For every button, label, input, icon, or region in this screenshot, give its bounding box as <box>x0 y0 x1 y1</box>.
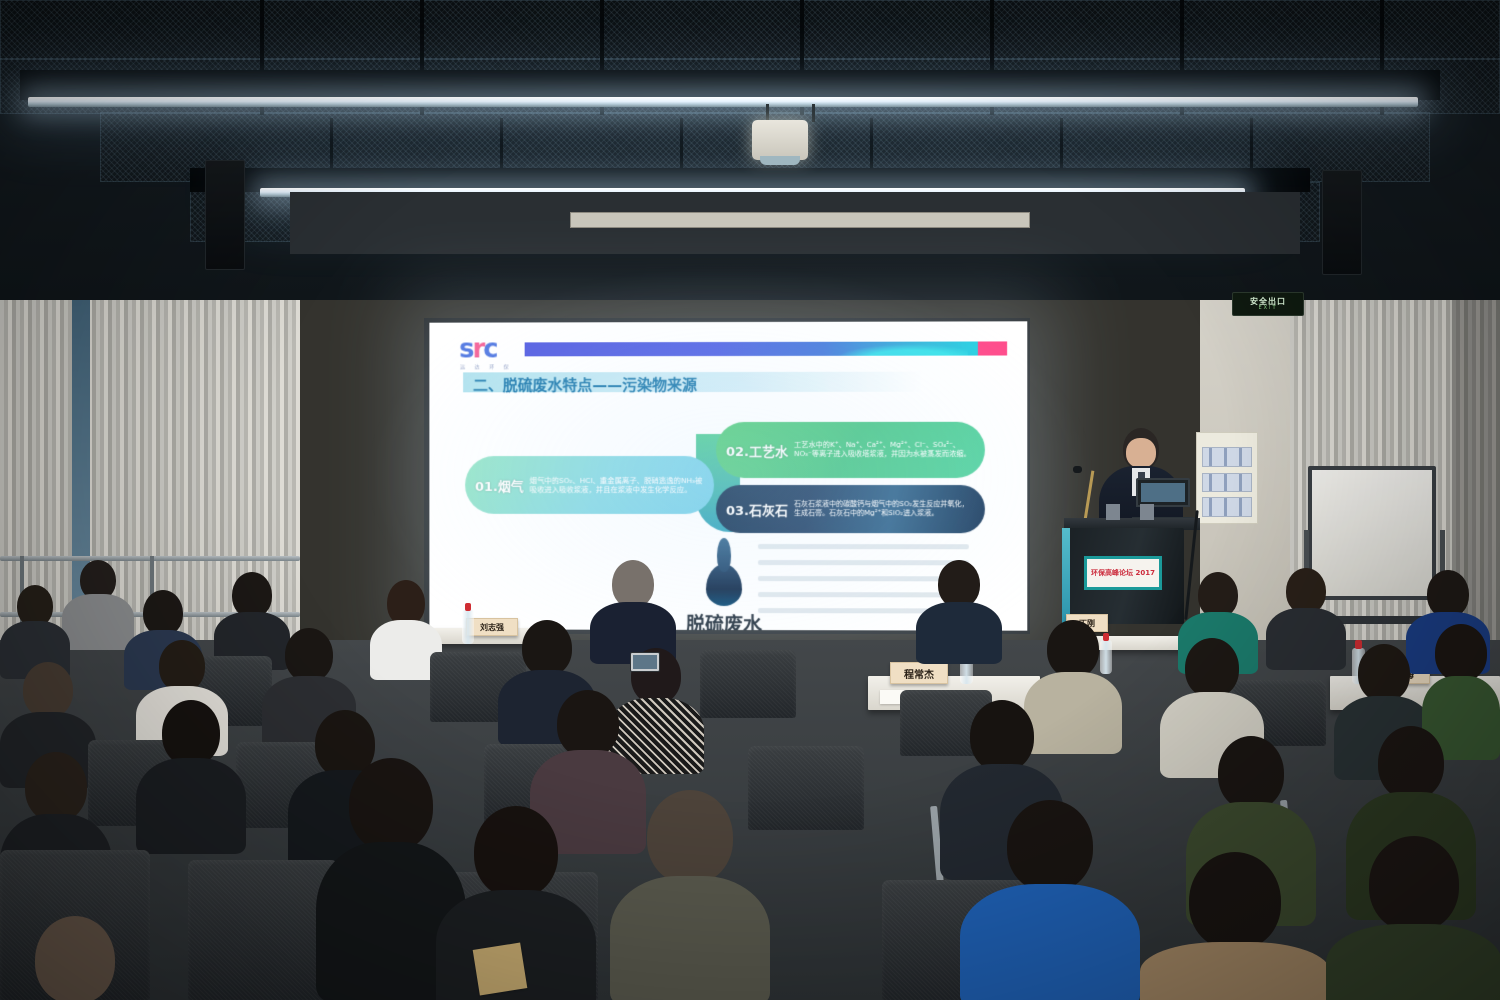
bubble-02-text: 工艺水中的K⁺、Na⁺、Ca²⁺、Mg²⁺、Cl⁻、SO₄²⁻、NO₃⁻等离子进… <box>794 441 975 459</box>
body <box>916 602 1002 664</box>
podium-riser-left <box>1106 504 1120 520</box>
audience-member <box>590 560 676 660</box>
head <box>1369 836 1459 932</box>
audience-member <box>960 800 1140 1000</box>
head <box>1047 620 1099 678</box>
head <box>557 690 619 758</box>
src-logo: src <box>459 334 496 364</box>
head <box>647 790 733 884</box>
head <box>938 560 980 608</box>
exit-sign-english: EXIT <box>1258 306 1277 311</box>
laptop-screen <box>1136 478 1190 507</box>
head <box>522 620 572 676</box>
head <box>23 662 73 718</box>
slide-header-bar <box>525 341 1007 356</box>
head <box>1435 624 1487 682</box>
projection-slot <box>570 212 1030 228</box>
placard-chengchangjie: 程常杰 <box>890 662 948 684</box>
podium-riser-right <box>1140 504 1154 520</box>
bubble-02-process-water: 02.工艺水 工艺水中的K⁺、Na⁺、Ca²⁺、Mg²⁺、Cl⁻、SO₄²⁻、N… <box>716 422 985 478</box>
body <box>1326 924 1500 1000</box>
wall-speaker-left <box>205 160 245 270</box>
head <box>159 640 205 692</box>
body <box>610 876 770 1000</box>
header-wave-accent <box>823 342 968 356</box>
slide-title: 二、脱硫废水特点——污染物来源 <box>473 374 697 395</box>
head <box>1378 726 1444 800</box>
smartphone[interactable] <box>630 652 660 672</box>
head <box>970 700 1034 772</box>
audience-member <box>0 916 150 1000</box>
audience-member <box>136 700 246 850</box>
presenter-face <box>1126 438 1156 468</box>
podium-accent-edge <box>1062 528 1070 624</box>
wall-control-panel[interactable] <box>1196 432 1258 524</box>
bubble-03-limestone: 03.石灰石 石灰石浆液中的碳酸钙与烟气中的SO₂发生反应并氧化，生成石膏。石灰… <box>716 485 985 533</box>
water-bottle-1 <box>462 610 474 644</box>
audience-member <box>1326 836 1500 1000</box>
head <box>1007 800 1093 892</box>
projector-mount-right <box>812 104 815 122</box>
podium-microphone-head <box>1073 466 1082 473</box>
bubble-01-number: 01.烟气 <box>475 476 524 495</box>
head <box>349 758 433 852</box>
head <box>612 560 654 608</box>
logo-letter-r: r <box>473 335 484 365</box>
ceiling-mesh-panel-1 <box>0 0 1500 60</box>
water-droplet-icon <box>706 564 742 606</box>
bubble-02-number: 02.工艺水 <box>726 440 788 459</box>
ceiling-projector <box>752 120 808 160</box>
body <box>1140 942 1330 1000</box>
head <box>474 806 558 898</box>
head <box>1218 736 1284 810</box>
head <box>25 752 87 822</box>
bubble-03-text: 石灰石浆液中的碳酸钙与烟气中的SO₂发生反应并氧化，生成石膏。石灰石中的Mg²⁺… <box>794 500 975 517</box>
control-panel-row-3[interactable] <box>1202 497 1252 517</box>
ceiling-light-bar-1 <box>28 97 1418 107</box>
audience-member <box>610 790 770 1000</box>
droplet-label: 脱硫废水 <box>686 610 762 631</box>
audience-member <box>916 560 1002 660</box>
audience-member <box>1140 852 1330 1000</box>
logo-letter-s: s <box>459 335 472 365</box>
head <box>1427 570 1469 618</box>
logo-letter-c: c <box>483 334 496 364</box>
wall-speaker-right <box>1322 170 1362 275</box>
exit-sign: 安全出口 EXIT <box>1232 292 1304 316</box>
ceiling-beam-upper <box>20 70 1440 100</box>
head <box>35 916 115 1000</box>
chair <box>700 650 796 718</box>
conference-room-photo: src 远 达 环 保 二、脱硫废水特点——污染物来源 01.烟气 烟气中的SO… <box>0 0 1500 1000</box>
body <box>136 758 246 854</box>
head <box>1189 852 1281 950</box>
head <box>285 628 333 682</box>
notebook-in-hand <box>473 943 528 996</box>
logo-subtitle: 远 达 环 保 <box>460 363 512 370</box>
head <box>162 700 220 766</box>
podium-sign: 环保高峰论坛 2017 <box>1084 556 1162 590</box>
head <box>1185 638 1239 698</box>
podium-sign-text: 环保高峰论坛 2017 <box>1091 568 1155 578</box>
bubble-03-number: 03.石灰石 <box>726 499 788 518</box>
control-panel-row-1[interactable] <box>1202 447 1252 467</box>
bubble-01-flue-gas: 01.烟气 烟气中的SO₂、HCl、重金属离子、脱硝逃逸的NH₃被吸收进入吸收浆… <box>465 456 714 514</box>
placard-chengchangjie-text: 程常杰 <box>904 666 934 681</box>
control-panel-row-2[interactable] <box>1202 473 1252 493</box>
head <box>1358 644 1410 702</box>
body <box>960 884 1140 1000</box>
bubble-01-text: 烟气中的SO₂、HCl、重金属离子、脱硝逃逸的NH₃被吸收进入吸收浆液，并且在浆… <box>530 476 704 494</box>
